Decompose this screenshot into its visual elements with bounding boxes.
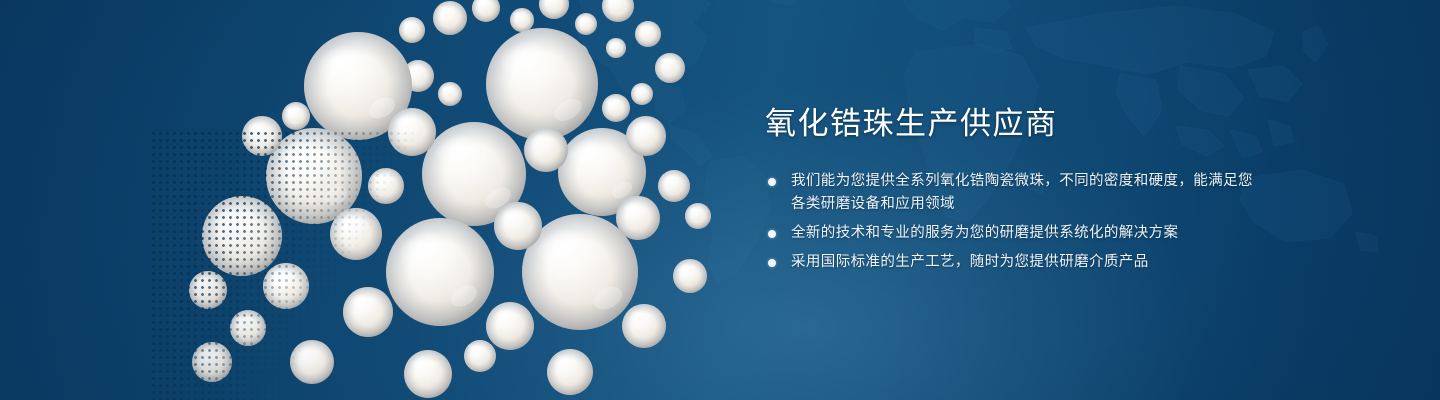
bullet-dot-icon bbox=[768, 259, 776, 267]
bullet-dot-icon bbox=[768, 230, 776, 238]
banner-copy: 氧化锆珠生产供应商 我们能为您提供全系列氧化锆陶瓷微珠，不同的密度和硬度，能满足… bbox=[765, 104, 1265, 274]
banner-headline: 氧化锆珠生产供应商 bbox=[765, 104, 1265, 144]
list-item: 我们能为您提供全系列氧化锆陶瓷微珠，不同的密度和硬度，能满足您各类研磨设备和应用… bbox=[765, 170, 1265, 216]
banner-feature-list: 我们能为您提供全系列氧化锆陶瓷微珠，不同的密度和硬度，能满足您各类研磨设备和应用… bbox=[765, 170, 1265, 274]
hero-banner: 氧化锆珠生产供应商 我们能为您提供全系列氧化锆陶瓷微珠，不同的密度和硬度，能满足… bbox=[0, 0, 1440, 400]
list-item-text: 我们能为您提供全系列氧化锆陶瓷微珠，不同的密度和硬度，能满足您各类研磨设备和应用… bbox=[791, 173, 1253, 212]
list-item-text: 全新的技术和专业的服务为您的研磨提供系统化的解决方案 bbox=[791, 225, 1178, 241]
list-item: 全新的技术和专业的服务为您的研磨提供系统化的解决方案 bbox=[765, 222, 1265, 245]
list-item-text: 采用国际标准的生产工艺，随时为您提供研磨介质产品 bbox=[791, 254, 1149, 270]
list-item: 采用国际标准的生产工艺，随时为您提供研磨介质产品 bbox=[765, 251, 1265, 274]
bullet-dot-icon bbox=[768, 178, 776, 186]
